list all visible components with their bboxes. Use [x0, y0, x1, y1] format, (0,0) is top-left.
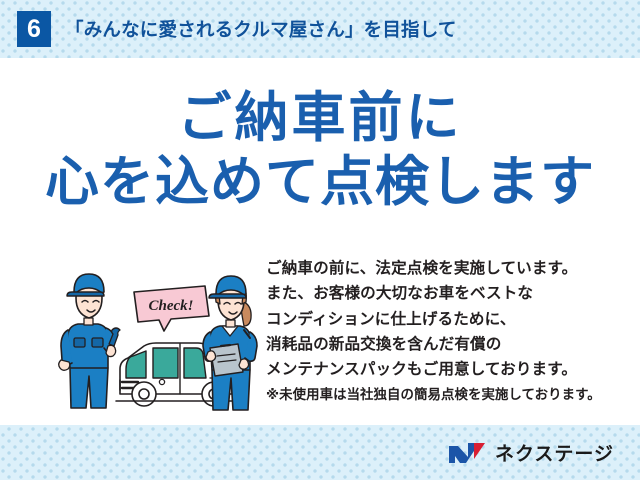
content-panel: ご納車前に 心を込めて点検します ご納車の前に、法定点検を実施しています。 また… [0, 58, 640, 425]
mechanic-male [59, 274, 120, 408]
body-copy: ご納車の前に、法定点検を実施しています。 また、お客様の大切なお車をベストな コ… [266, 256, 626, 406]
body-copy-line-2: また、お客様の大切なお車をベストな [266, 281, 626, 306]
header: 6 「みんなに愛されるクルマ屋さん」を目指して [0, 0, 640, 58]
body-copy-note: ※未使用車は当社独自の簡易点検を実施しております。 [266, 384, 626, 406]
promo-banner: 6 「みんなに愛されるクルマ屋さん」を目指して ご納車前に 心を込めて点検します… [0, 0, 640, 480]
header-title: 「みんなに愛されるクルマ屋さん」を目指して [65, 16, 457, 42]
page-title: ご納車前に 心を込めて点検します [0, 88, 640, 213]
headline-line-2: 心を込めて点検します [0, 152, 640, 212]
body-copy-line-4: 消耗品の新品交換を含んだ有償の [266, 332, 626, 357]
nextage-n-mark-icon [447, 441, 487, 465]
mechanics-illustration: Check! [58, 268, 263, 413]
section-number-badge: 6 [17, 11, 51, 47]
body-copy-line-3: コンディションに仕上げるために、 [266, 307, 626, 332]
body-copy-line-5: メンテナンスパックもご用意しております。 [266, 357, 626, 382]
check-bubble-label: Check! [149, 298, 194, 314]
body-copy-line-1: ご納車の前に、法定点検を実施しています。 [266, 256, 626, 281]
headline-line-1: ご納車前に [0, 88, 640, 148]
brand-logo: ネクステージ [447, 439, 614, 466]
brand-name: ネクステージ [495, 439, 614, 466]
